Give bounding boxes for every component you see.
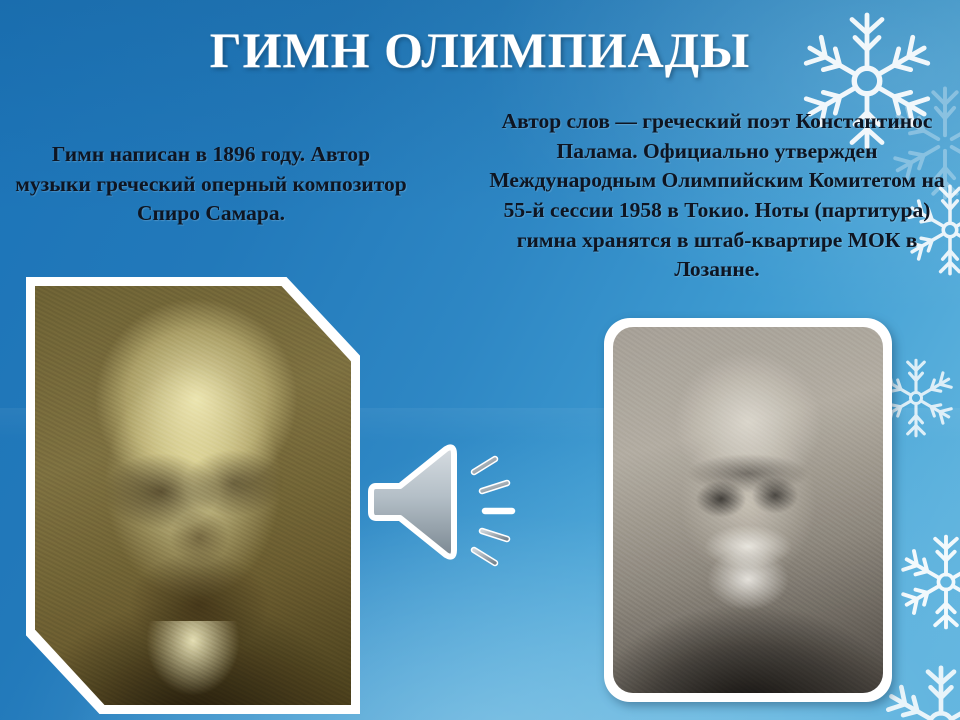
portrait-grain-overlay xyxy=(35,286,351,705)
speaker-cone xyxy=(371,447,454,556)
portrait-grain-overlay xyxy=(613,327,883,693)
text-block-music-author: Гимн написан в 1896 году. Автор музыки г… xyxy=(14,140,408,229)
slide-canvas: ГИМН ОЛИМПИАДЫ Гимн написан в 1896 году.… xyxy=(0,0,960,720)
portrait-frame-spiro-samaras xyxy=(26,277,360,714)
portrait-image-sepia xyxy=(35,286,351,705)
portrait-kostis-palamas xyxy=(613,327,883,693)
text-block-lyrics-author: Автор слов — греческий поэт Константинос… xyxy=(486,107,948,285)
portrait-image-grayscale xyxy=(613,327,883,693)
speaker-sound-icon[interactable] xyxy=(374,432,534,572)
portrait-spiro-samaras xyxy=(35,286,351,705)
portrait-frame-kostis-palamas xyxy=(604,318,892,702)
page-title: ГИМН ОЛИМПИАДЫ xyxy=(0,24,960,77)
